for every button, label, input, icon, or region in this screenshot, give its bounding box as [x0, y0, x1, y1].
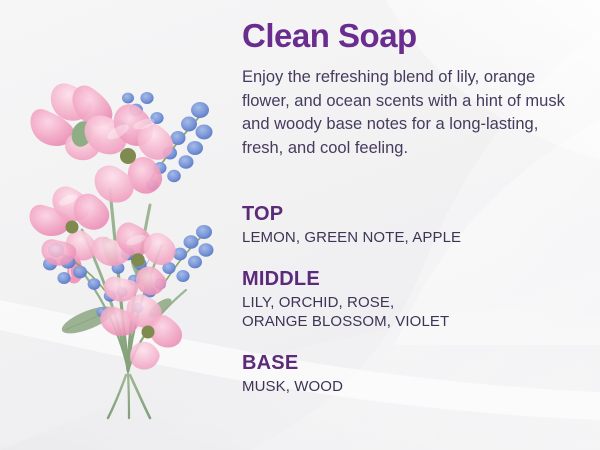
- note-group-base: BASE MUSK, WOOD: [242, 351, 582, 396]
- note-line: ORANGE BLOSSOM, VIOLET: [242, 312, 582, 331]
- note-heading-base: BASE: [242, 351, 582, 375]
- note-group-top: TOP LEMON, GREEN NOTE, APPLE: [242, 202, 582, 247]
- note-group-middle: MIDDLE LILY, ORCHID, ROSE, ORANGE BLOSSO…: [242, 267, 582, 331]
- note-items-middle: LILY, ORCHID, ROSE, ORANGE BLOSSOM, VIOL…: [242, 293, 582, 331]
- note-items-top: LEMON, GREEN NOTE, APPLE: [242, 228, 582, 247]
- note-line: LILY, ORCHID, ROSE,: [242, 293, 582, 312]
- watercolor-flower-bouquet-illustration: [10, 40, 225, 420]
- note-line: MUSK, WOOD: [242, 377, 582, 396]
- note-heading-top: TOP: [242, 202, 582, 226]
- note-items-base: MUSK, WOOD: [242, 377, 582, 396]
- product-description: Enjoy the refreshing blend of lily, oran…: [242, 66, 574, 160]
- note-line: LEMON, GREEN NOTE, APPLE: [242, 228, 582, 247]
- page-title: Clean Soap: [242, 18, 417, 54]
- fragrance-notes-card: Clean Soap Enjoy the refreshing blend of…: [0, 0, 600, 450]
- note-heading-middle: MIDDLE: [242, 267, 582, 291]
- text-column: Clean Soap Enjoy the refreshing blend of…: [242, 0, 592, 450]
- fragrance-notes-list: TOP LEMON, GREEN NOTE, APPLE MIDDLE LILY…: [242, 202, 582, 396]
